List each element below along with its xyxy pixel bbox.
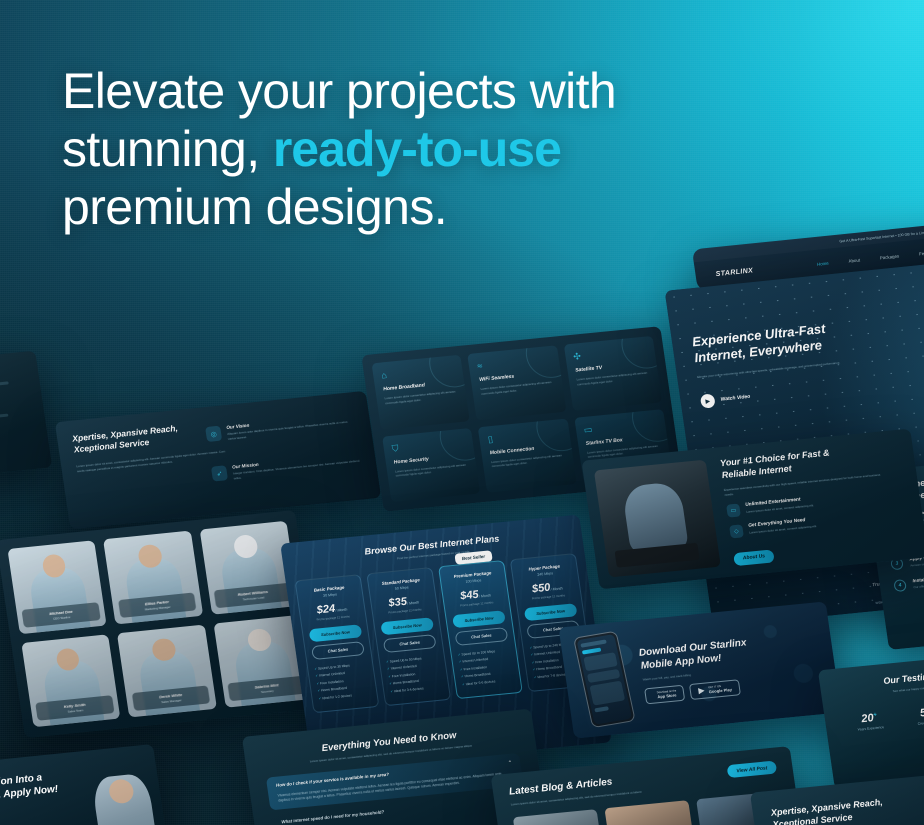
plan-price: $50 <box>531 581 551 595</box>
careers-subtitle: Explore open positions and grow your car… <box>0 803 49 820</box>
plan-feature: Ideal for 3-4 devices <box>390 684 442 693</box>
about-us-button[interactable]: About Us <box>733 549 775 566</box>
service-desc: Lorem ipsum dolor consectetur adipiscing… <box>491 453 565 469</box>
step-title: Installation <box>912 575 924 583</box>
service-card-satellite-tv[interactable]: ✣ Satellite TV Lorem ipsum dolor consect… <box>563 336 661 411</box>
team-member[interactable]: Kelly Smith Sales Team <box>21 634 120 727</box>
subscribe-button[interactable]: Subscribe Now <box>524 603 578 621</box>
stat-value: 50 <box>919 706 924 719</box>
play-icon: ▶ <box>700 393 716 408</box>
service-card-home-broadband[interactable]: ⌂ Home Broadband Lorem ipsum dolor conse… <box>372 355 470 430</box>
plan-price: $45 <box>459 588 479 602</box>
plan-price: $24 <box>316 602 336 616</box>
service-card-mobile-connection[interactable]: ▯ Mobile Connection Lorem ipsum dolor co… <box>478 418 576 493</box>
service-card-home-security[interactable]: ⛉ Home Security Lorem ipsum dolor consec… <box>382 428 480 503</box>
box-icon: ◇ <box>729 525 744 539</box>
subscribe-button[interactable]: Subscribe Now <box>380 617 434 635</box>
faq-question: What internet speed do I need for my hou… <box>281 809 385 824</box>
plan-feature: Ideal for 1-2 devices <box>318 691 370 700</box>
mission-item[interactable]: ➶ Our Mission Integer tincidunt. Cras da… <box>211 452 363 483</box>
view-all-post-button[interactable]: View All Post <box>727 760 778 778</box>
service-desc: Lorem ipsum dolor consectetur adipiscing… <box>395 462 469 478</box>
brand-logo[interactable]: STARLINX <box>715 267 754 278</box>
watch-video-label: Watch Video <box>720 394 750 403</box>
pricing-plan-grid: Basic Package 30 Mbps $24/ Month Promo p… <box>294 553 594 714</box>
step-desc: Our office will be in touch <box>913 582 924 590</box>
eye-icon: ◎ <box>205 426 222 442</box>
plan-feature-list: Speed Up to 50 Mbps Internet Unlimited F… <box>386 654 443 693</box>
nav-item-about[interactable]: About <box>848 257 860 264</box>
testimonials-stats: 20+ Years Experience 50+ Crew of Worker … <box>838 698 924 733</box>
team-grid: Michael Doe CEO Starlinx Ellisa Parker M… <box>7 521 312 727</box>
subscribe-button[interactable]: Subscribe Now <box>452 610 506 628</box>
headline-line-2-prefix: stunning, <box>62 121 273 177</box>
blog-card[interactable] <box>513 809 603 825</box>
stat-label: Years Experience <box>857 725 884 732</box>
vision-item[interactable]: ◎ Our Vision Aliquam lorem ante dapibus … <box>205 412 357 443</box>
store-big-label: App Store <box>657 693 677 700</box>
service-desc: Lorem ipsum dolor consectetur adipiscing… <box>576 370 650 386</box>
store-big-label: Google Play <box>708 687 732 694</box>
choice-photo <box>594 460 721 578</box>
step-number: 4 <box>893 579 907 592</box>
headline-line-3: premium designs. <box>62 179 447 235</box>
team-member[interactable]: Michael Doe CEO Starlinx <box>7 540 106 633</box>
team-member[interactable]: Ellisa Parker Marketing Manager <box>103 531 202 624</box>
nav-item-home[interactable]: Home <box>817 260 830 267</box>
team-member[interactable]: Derek White Sales Manager <box>117 624 216 717</box>
nav-item-packages[interactable]: Packages <box>879 253 899 261</box>
service-desc: Lorem ipsum dolor consectetur adipiscing… <box>384 389 458 405</box>
page-title: Elevate your projects with stunning, rea… <box>62 62 702 236</box>
pricing-plan-premium[interactable]: Best Seller Premium Package 100 Mbps $45… <box>438 560 523 700</box>
google-play-icon: ▶ <box>698 687 705 696</box>
headline-accent: ready-to-use <box>273 121 561 177</box>
tv-icon: ▭ <box>726 504 741 518</box>
plan-price: $35 <box>388 595 408 609</box>
service-card-wifi-seamless[interactable]: ≈ WiFi Seamless Lorem ipsum dolor consec… <box>468 345 566 420</box>
careers-photo <box>91 773 160 825</box>
headline-line-1: Elevate your projects with <box>62 63 616 119</box>
chevron-up-icon[interactable]: ⌃ <box>507 759 512 765</box>
mockup-testimonials[interactable]: Our Testimonials See what our happy cust… <box>818 651 924 789</box>
blog-card[interactable] <box>604 800 694 825</box>
nav-item-features[interactable]: Features ⌄ <box>919 249 924 257</box>
chat-sales-button[interactable]: Chat Sales <box>383 634 437 653</box>
plan-feature-list: Speed Up to 30 Mbps Internet Unlimited F… <box>314 661 371 700</box>
chat-sales-button[interactable]: Chat Sales <box>454 627 508 646</box>
plan-period: / Month <box>550 586 563 591</box>
subscribe-button[interactable]: Subscribe Now <box>309 624 363 642</box>
pricing-plan-standard[interactable]: Standard Package 50 Mbps $35/ Month Prom… <box>366 567 451 707</box>
stat-suffix: + <box>873 712 877 718</box>
mockup-team-grid[interactable]: Michael Doe CEO Starlinx Ellisa Parker M… <box>0 510 324 738</box>
xpertise2-title: Xpertise, Xpansive Reach, Xceptional Ser… <box>770 786 924 825</box>
stat-item: 50+ Crew of Worker <box>915 705 924 725</box>
plan-feature: Ideal for 5-6 devices <box>462 677 514 686</box>
careers-title: Turn Your Passion Into a Career With Us,… <box>0 770 59 809</box>
plan-period: / Month <box>407 600 420 605</box>
plan-period: / Month <box>335 607 348 612</box>
plan-feature-list: Speed Up to 100 Mbps Internet Unlimited … <box>457 647 514 686</box>
navbar-links: Home About Packages Features ⌄ Contact <box>817 245 924 267</box>
rocket-icon: ➶ <box>211 465 228 481</box>
chat-sales-button[interactable]: Chat Sales <box>311 641 365 660</box>
mockup-careers[interactable]: Turn Your Passion Into a Career With Us,… <box>0 744 170 825</box>
app-text: Download Our Starlinx Mobile App Now! Wa… <box>638 636 754 704</box>
plan-period: / Month <box>479 593 492 598</box>
service-desc: Lorem ipsum dolor consectetur adipiscing… <box>480 380 554 396</box>
stat-item: 20+ Years Experience <box>855 711 884 731</box>
stat-label: Crew of Worker <box>917 719 924 725</box>
vision-title: Xpertise, Xpansive Reach, Xceptional Ser… <box>72 419 225 456</box>
